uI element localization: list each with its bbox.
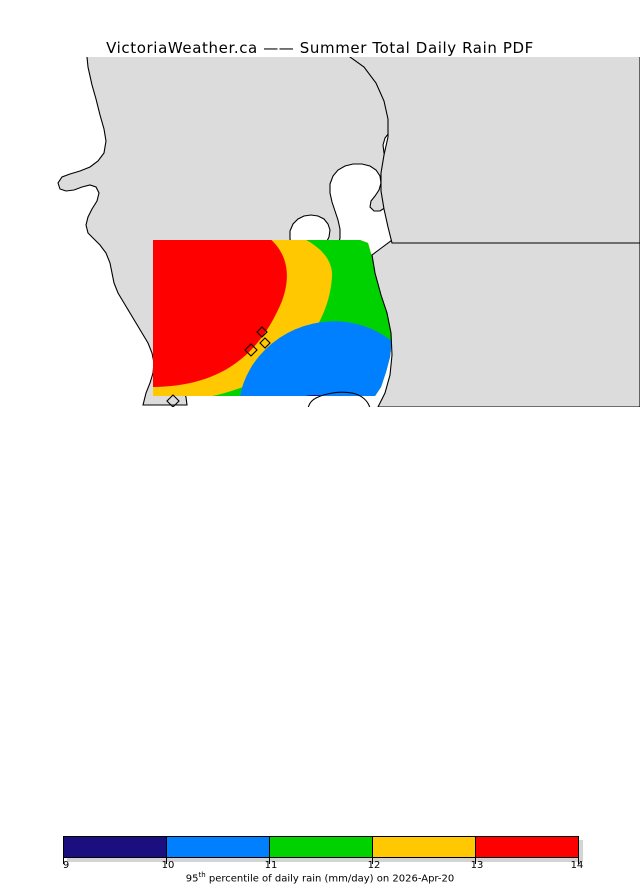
caption-text: percentile of daily rain (mm/day) on 202… (206, 873, 455, 884)
map-canvas[interactable] (0, 57, 640, 407)
land-north-east (340, 57, 640, 243)
colorbar-tick-label: 14 (571, 860, 584, 871)
colorbar-caption: 95th percentile of daily rain (mm/day) o… (0, 871, 640, 884)
colorbar-ticks (0, 836, 640, 864)
colorbar-tick-label: 13 (471, 860, 484, 871)
weather-map-page: VictoriaWeather.ca —— Summer Total Daily… (0, 0, 640, 480)
colorbar-tick-label: 10 (162, 860, 175, 871)
map-panel[interactable] (0, 57, 640, 407)
caption-percentile-suffix: th (199, 871, 206, 879)
caption-percentile-number: 95 (186, 873, 199, 884)
colorbar-tick-label: 9 (63, 860, 69, 871)
colorbar-area: 9 10 11 12 13 14 95th percentile of dail… (0, 414, 640, 480)
page-title: VictoriaWeather.ca —— Summer Total Daily… (0, 39, 640, 57)
colorbar-tick-label: 11 (265, 860, 278, 871)
land-east-block (372, 240, 640, 407)
colorbar-tick-label: 12 (368, 860, 381, 871)
